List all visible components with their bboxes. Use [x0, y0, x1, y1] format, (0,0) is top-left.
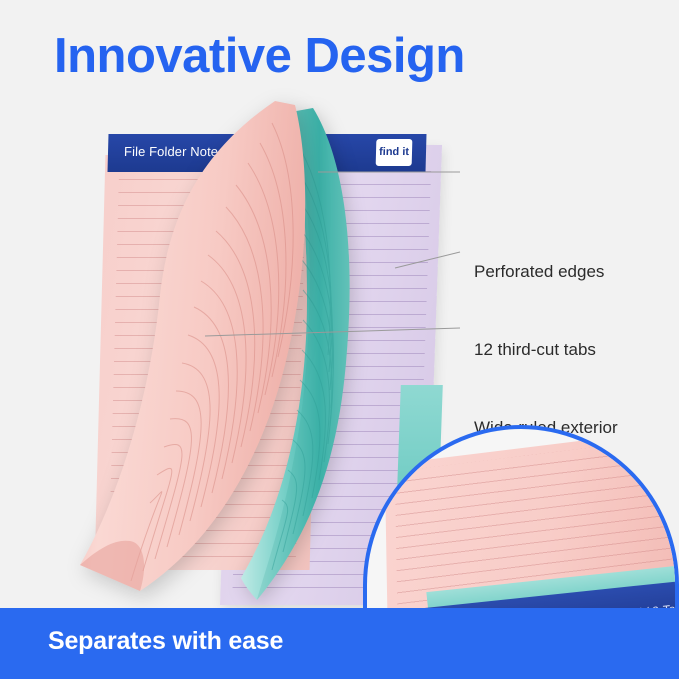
page-title: Innovative Design	[54, 28, 465, 84]
callout-perforated-edges: Perforated edges	[474, 261, 604, 283]
curled-pink-sheet	[60, 95, 335, 595]
product-image-stage: Innovative Design File Folder Note Pad /…	[0, 0, 679, 679]
bottom-banner-text: Separates with ease	[48, 627, 283, 656]
bottom-banner: Separates with ease	[0, 608, 679, 679]
callout-third-cut-tabs: 12 third-cut tabs	[474, 339, 596, 361]
